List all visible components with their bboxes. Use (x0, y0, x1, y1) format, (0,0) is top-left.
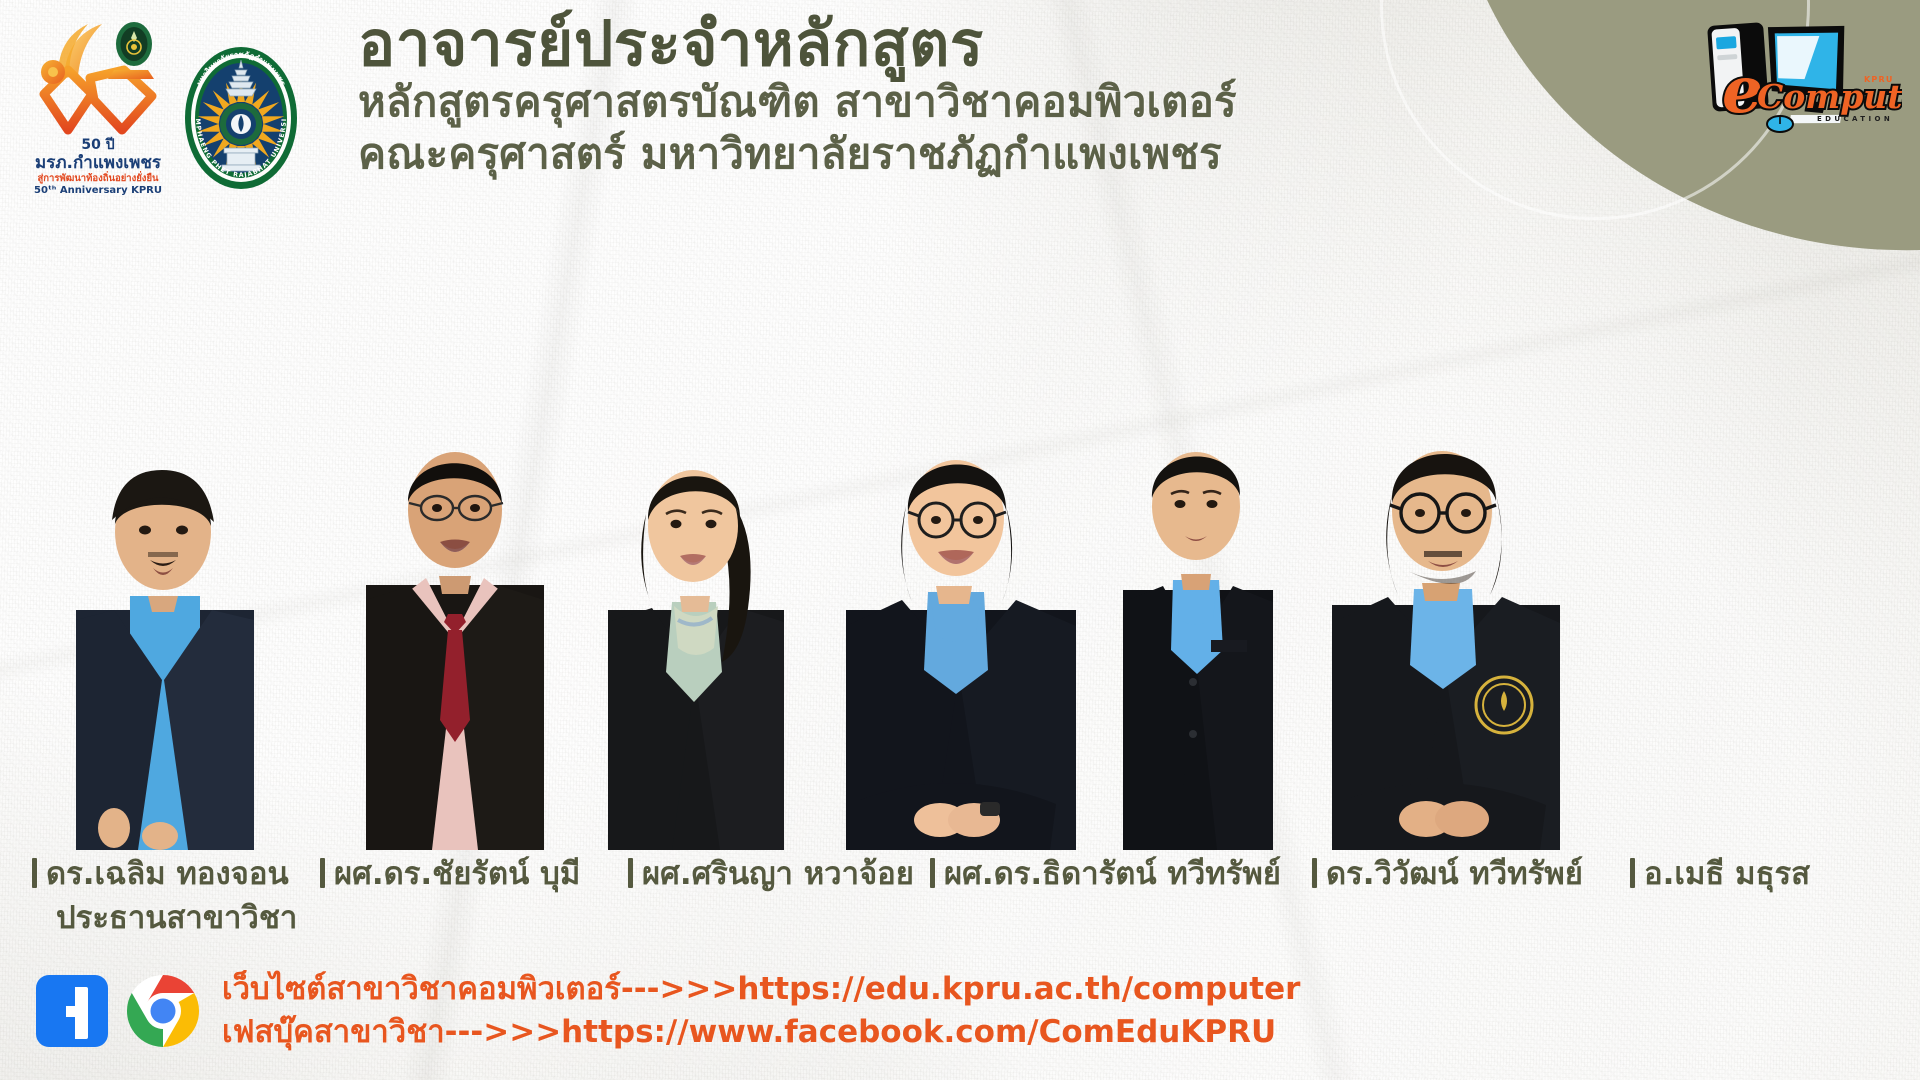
svg-text:EDUCATION: EDUCATION (1817, 115, 1893, 123)
computer-education-logo: e Computer EDUCATION KPRU (1652, 8, 1902, 148)
svg-text:มรภ.กำแพงเพชร: มรภ.กำแพงเพชร (35, 153, 162, 173)
faculty-name-6: อ.เมธี มธุรส (1630, 848, 1810, 898)
title-subline-1: หลักสูตรครุศาสตรบัณฑิต สาขาวิชาคอมพิวเตอ… (358, 76, 1538, 127)
faculty-name-2: ผศ.ดร.ชัยรัตน์ บุมี (320, 848, 580, 898)
svg-text:KPRU: KPRU (1864, 75, 1894, 84)
faculty-name-1: ดร.เฉลิม ทองจอน (32, 848, 289, 898)
faculty-name-5: ดร.วิวัฒน์ ทวีทรัพย์ (1312, 848, 1583, 898)
portrait-4 (828, 400, 1093, 850)
faculty-name-2-text: ผศ.ดร.ชัยรัตน์ บุมี (334, 856, 580, 892)
svg-text:50 ปี: 50 ปี (81, 137, 114, 153)
title-subline-2: คณะครุศาสตร์ มหาวิทยาลัยราชภัฏกำแพงเพชร (358, 128, 1538, 179)
title-block: อาจารย์ประจำหลักสูตร หลักสูตรครุศาสตรบัณ… (358, 12, 1538, 179)
portrait-3 (580, 410, 810, 850)
name-separator-bar (320, 858, 325, 888)
faculty-name-1-text: ดร.เฉลิม ทองจอน (46, 856, 289, 892)
website-link[interactable]: เว็บไซต์สาขาวิชาคอมพิวเตอร์--->>>https:/… (222, 968, 1300, 1011)
faculty-name-3-text: ผศ.ศรินญา หวาจ้อย (642, 856, 914, 892)
kpru-50th-anniversary-logo: 50 ปี มรภ.กำแพงเพชร สู่การพัฒนาท้องถิ่นอ… (28, 18, 168, 196)
name-separator-bar (1312, 858, 1317, 888)
chrome-icon[interactable] (126, 974, 200, 1048)
faculty-portraits (0, 330, 1920, 850)
faculty-name-3: ผศ.ศรินญา หวาจ้อย (628, 848, 914, 898)
name-separator-bar (930, 858, 935, 888)
portrait-2 (340, 390, 570, 850)
faculty-names-row: ดร.เฉลิม ทองจอน ผศ.ดร.ชัยรัตน์ บุมี ผศ.ศ… (0, 848, 1920, 892)
faculty-name-4: ผศ.ดร.ธิดารัตน์ ทวีทรัพย์ (930, 848, 1281, 898)
name-separator-bar (628, 858, 633, 888)
faculty-name-4-text: ผศ.ดร.ธิดารัตน์ ทวีทรัพย์ (944, 856, 1281, 892)
poster-canvas: 50 ปี มรภ.กำแพงเพชร สู่การพัฒนาท้องถิ่นอ… (0, 0, 1920, 1080)
kpru-official-seal: มหาวิทยาลัยราชภัฏกำแพงเพชร KAMPHAENG PHE… (182, 44, 300, 192)
faculty-name-6-text: อ.เมธี มธุรส (1644, 856, 1810, 892)
portrait-6 (1308, 395, 1580, 850)
svg-text:สู่การพัฒนาท้องถิ่นอย่างยั่งยื: สู่การพัฒนาท้องถิ่นอย่างยั่งยืน (37, 170, 159, 185)
portrait-5 (1093, 390, 1301, 850)
footer-links: เว็บไซต์สาขาวิชาคอมพิวเตอร์--->>>https:/… (36, 968, 1300, 1054)
faculty-role-1: ประธานสาขาวิชา (56, 892, 297, 942)
page-title: อาจารย์ประจำหลักสูตร (358, 12, 1538, 76)
facebook-link[interactable]: เฟสบุ๊คสาขาวิชา--->>>https://www.faceboo… (222, 1011, 1300, 1054)
faculty-name-5-text: ดร.วิวัฒน์ ทวีทรัพย์ (1326, 856, 1583, 892)
university-logos: 50 ปี มรภ.กำแพงเพชร สู่การพัฒนาท้องถิ่นอ… (28, 18, 300, 196)
name-separator-bar (1630, 858, 1635, 888)
link-list: เว็บไซต์สาขาวิชาคอมพิวเตอร์--->>>https:/… (222, 968, 1300, 1054)
name-separator-bar (32, 858, 37, 888)
facebook-icon[interactable] (36, 975, 108, 1047)
portrait-1 (52, 420, 272, 850)
svg-text:50ᵗʰ Anniversary KPRU: 50ᵗʰ Anniversary KPRU (34, 185, 162, 196)
